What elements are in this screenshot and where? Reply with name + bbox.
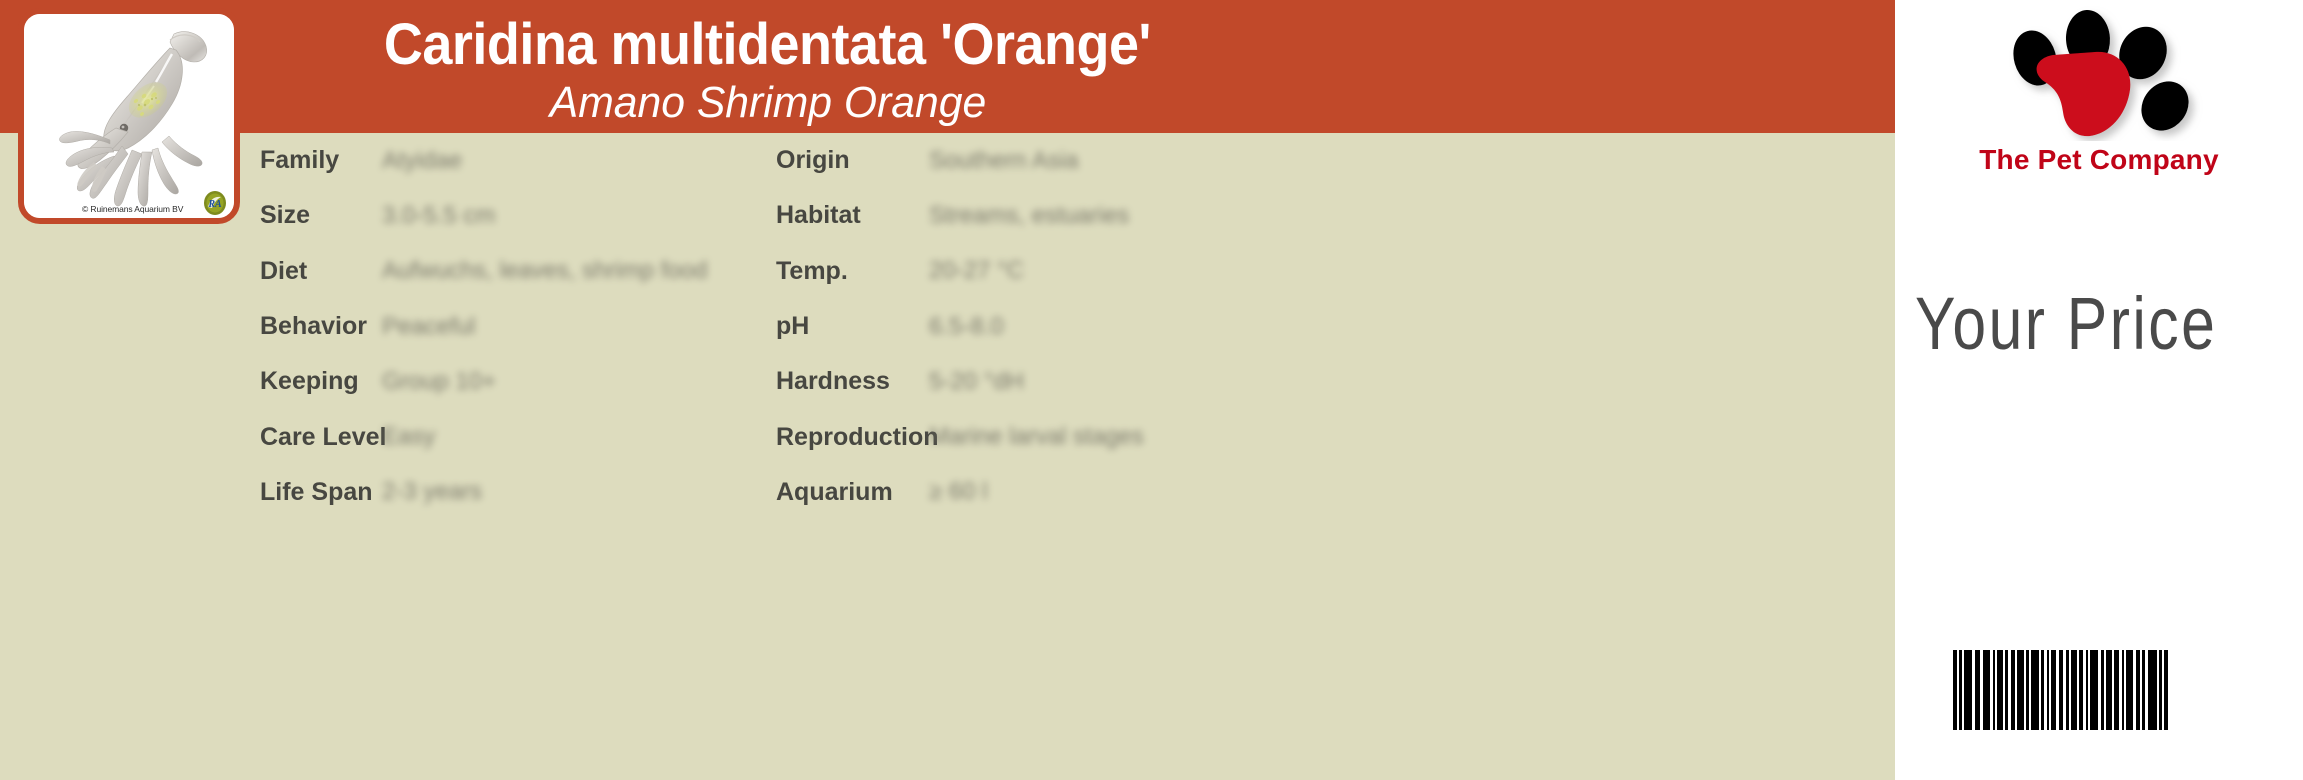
barcode-bar bbox=[2122, 650, 2124, 730]
ra-logo-icon: RA bbox=[202, 190, 228, 216]
brand-name: The Pet Company bbox=[1895, 144, 2303, 176]
barcode-bar bbox=[2136, 650, 2140, 730]
spec-row: Diet Aufwuchs, leaves, shrimp food bbox=[260, 244, 776, 299]
species-info-card: Caridina multidentata 'Orange' Amano Shr… bbox=[0, 0, 2303, 780]
spec-label-ph: pH bbox=[776, 312, 929, 341]
barcode-bar bbox=[2071, 650, 2077, 730]
barcode-bar bbox=[2164, 650, 2168, 730]
barcode-bar bbox=[2047, 650, 2049, 730]
barcode-bar bbox=[2017, 650, 2024, 730]
spec-label-behavior: Behavior bbox=[260, 312, 382, 341]
spec-value-temp: 20-27 °C bbox=[929, 257, 1024, 285]
spec-label-origin: Origin bbox=[776, 146, 929, 175]
spec-row: Hardness 5-20 °dH bbox=[776, 354, 1895, 409]
left-card: Caridina multidentata 'Orange' Amano Shr… bbox=[0, 0, 1895, 780]
barcode-bar bbox=[1959, 650, 1962, 730]
spec-value-family: Atyidae bbox=[382, 147, 462, 175]
barcode-bar bbox=[1997, 650, 2003, 730]
barcode-bar bbox=[2126, 650, 2133, 730]
spec-value-habitat: Streams, estuaries bbox=[929, 202, 1129, 230]
barcode-bar bbox=[2059, 650, 2063, 730]
spec-row: Keeping Group 10+ bbox=[260, 354, 776, 409]
barcode-bar bbox=[1964, 650, 1972, 730]
spec-value-diet: Aufwuchs, leaves, shrimp food bbox=[382, 257, 708, 285]
barcode-bar bbox=[1953, 650, 1957, 730]
spec-row: Family Atyidae bbox=[260, 133, 776, 188]
barcode-bar bbox=[2005, 650, 2008, 730]
title-block: Caridina multidentata 'Orange' Amano Shr… bbox=[260, 0, 1275, 133]
spec-table: Family Atyidae Size 3.0-5.5 cm Diet Aufw… bbox=[260, 133, 1895, 780]
barcode-bar bbox=[1975, 650, 1980, 730]
scientific-name: Caridina multidentata 'Orange' bbox=[384, 14, 1151, 76]
spec-value-reproduction: Marine larval stages bbox=[929, 423, 1144, 451]
spec-value-ph: 6.5-8.0 bbox=[929, 313, 1004, 341]
barcode-bar bbox=[1983, 650, 1990, 730]
barcode-bar bbox=[2051, 650, 2056, 730]
species-photo-card[interactable]: © Ruinemans Aquarium BV RA bbox=[18, 8, 240, 224]
common-name: Amano Shrimp Orange bbox=[549, 78, 986, 128]
barcode-bar bbox=[2101, 650, 2104, 730]
spec-column-right: Origin Southern Asia Habitat Streams, es… bbox=[776, 133, 1895, 780]
spec-label-care-level: Care Level bbox=[260, 423, 382, 452]
spec-row: Temp. 20-27 °C bbox=[776, 244, 1895, 299]
spec-row: Origin Southern Asia bbox=[776, 133, 1895, 188]
barcode-bar bbox=[2114, 650, 2119, 730]
species-photo-inner: © Ruinemans Aquarium BV RA bbox=[24, 14, 234, 218]
spec-value-hardness: 5-20 °dH bbox=[929, 368, 1024, 396]
spec-value-origin: Southern Asia bbox=[929, 147, 1078, 175]
barcode-bar bbox=[2011, 650, 2015, 730]
spec-row: Behavior Peaceful bbox=[260, 299, 776, 354]
paw-print-icon bbox=[1987, 6, 2212, 141]
barcode-bar bbox=[2031, 650, 2039, 730]
spec-label-diet: Diet bbox=[260, 257, 382, 286]
spec-row: pH 6.5-8.0 bbox=[776, 299, 1895, 354]
spec-row: Care Level Easy bbox=[260, 409, 776, 464]
svg-text:RA: RA bbox=[207, 199, 222, 210]
barcode-bar bbox=[2066, 650, 2069, 730]
spec-label-hardness: Hardness bbox=[776, 367, 929, 396]
barcode-bar bbox=[2106, 650, 2112, 730]
barcode-bar bbox=[2079, 650, 2083, 730]
spec-label-reproduction: Reproduction bbox=[776, 423, 929, 452]
brand-logo: The Pet Company bbox=[1895, 4, 2303, 194]
barcode bbox=[1953, 650, 2253, 730]
spec-value-size: 3.0-5.5 cm bbox=[382, 202, 495, 230]
spec-value-care-level: Easy bbox=[382, 423, 435, 451]
barcode-bar bbox=[2041, 650, 2044, 730]
spec-value-life-span: 2-3 years bbox=[382, 478, 482, 506]
barcode-bar bbox=[1993, 650, 1995, 730]
spec-row: Life Span 2-3 years bbox=[260, 465, 776, 520]
spec-label-temp: Temp. bbox=[776, 257, 929, 286]
barcode-bar bbox=[2148, 650, 2157, 730]
barcode-bar bbox=[2159, 650, 2162, 730]
photo-watermark: © Ruinemans Aquarium BV bbox=[82, 204, 183, 214]
spec-value-keeping: Group 10+ bbox=[382, 368, 496, 396]
spec-label-habitat: Habitat bbox=[776, 201, 929, 230]
spec-label-life-span: Life Span bbox=[260, 478, 382, 507]
spec-row: Size 3.0-5.5 cm bbox=[260, 188, 776, 243]
spec-row: Reproduction Marine larval stages bbox=[776, 409, 1895, 464]
barcode-bar bbox=[2142, 650, 2145, 730]
spec-column-left: Family Atyidae Size 3.0-5.5 cm Diet Aufw… bbox=[260, 133, 776, 780]
price-label: Your Price bbox=[1915, 285, 2217, 363]
spec-label-size: Size bbox=[260, 201, 382, 230]
spec-value-behavior: Peaceful bbox=[382, 313, 475, 341]
spec-label-keeping: Keeping bbox=[260, 367, 382, 396]
barcode-bar bbox=[2090, 650, 2098, 730]
barcode-bar bbox=[2086, 650, 2088, 730]
spec-label-aquarium: Aquarium bbox=[776, 478, 929, 507]
spec-label-family: Family bbox=[260, 146, 382, 175]
price-panel: The Pet Company Your Price bbox=[1895, 0, 2303, 780]
spec-row: Aquarium ≥ 60 l bbox=[776, 465, 1895, 520]
spec-value-aquarium: ≥ 60 l bbox=[929, 478, 988, 506]
shrimp-photo bbox=[52, 28, 222, 218]
barcode-bar bbox=[2026, 650, 2029, 730]
spec-row: Habitat Streams, estuaries bbox=[776, 188, 1895, 243]
